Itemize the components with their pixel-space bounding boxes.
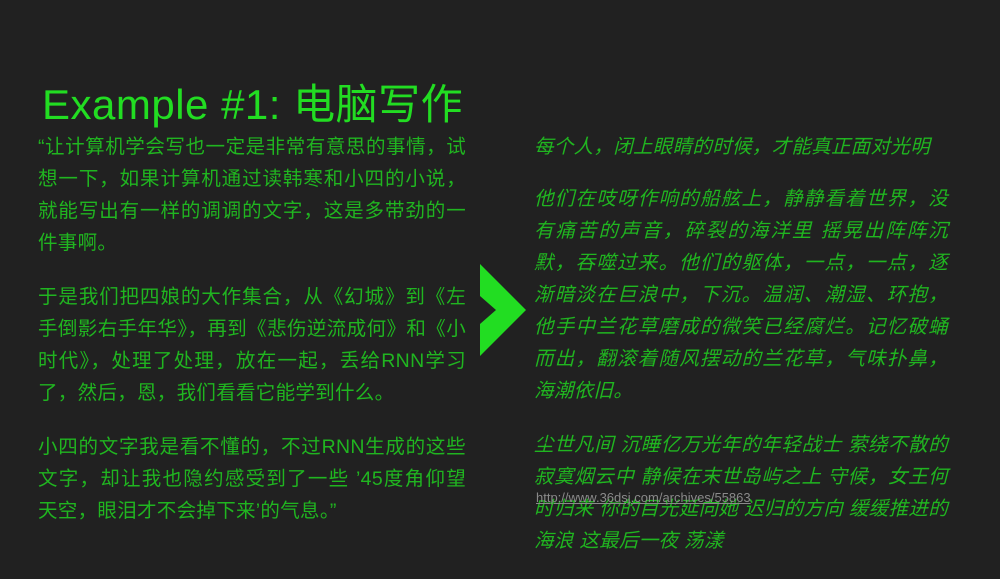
slide-canvas: Example #1: 电脑写作 “让计算机学会写也一定是非常有意思的事情，试想… — [0, 0, 1000, 563]
source-url-link[interactable]: http://www.36dsj.com/archives/55863 — [536, 489, 751, 507]
page-title: Example #1: 电脑写作 — [42, 80, 463, 130]
left-text-column: “让计算机学会写也一定是非常有意思的事情，试想一下，如果计算机通过读韩寒和小四的… — [38, 131, 466, 527]
chevron-right-icon — [476, 262, 528, 358]
generated-paragraph-1: 每个人，闭上眼睛的时候，才能真正面对光明 — [534, 131, 948, 163]
left-paragraph-1: “让计算机学会写也一定是非常有意思的事情，试想一下，如果计算机通过读韩寒和小四的… — [38, 131, 466, 259]
generated-paragraph-2: 他们在吱呀作响的船舷上，静静看着世界，没有痛苦的声音，碎裂的海洋里 摇晃出阵阵沉… — [534, 183, 948, 407]
chevron-right-glyph — [476, 262, 528, 358]
right-text-column: 每个人，闭上眼睛的时候，才能真正面对光明 他们在吱呀作响的船舷上，静静看着世界，… — [534, 131, 948, 579]
left-paragraph-2: 于是我们把四娘的大作集合，从《幻城》到《左手倒影右手年华》，再到《悲伤逆流成何》… — [38, 281, 466, 409]
left-paragraph-3: 小四的文字我是看不懂的，不过RNN生成的这些文字，却让我也隐约感受到了一些 ’4… — [38, 431, 466, 527]
